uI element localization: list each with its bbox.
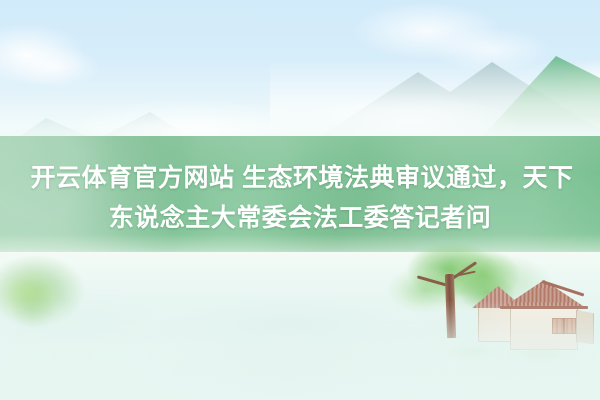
article-cover-banner: 开云体育官方网站 生态环境法典审议通过，天下 东说念主大常委会法工委答记者问 [0, 0, 600, 400]
title-line-2: 东说念主大常委会法工委答记者问 [109, 199, 492, 237]
misty-mountains [0, 0, 600, 150]
title-line-1: 开云体育官方网站 生态环境法典审议通过，天下 [27, 159, 574, 197]
page-title: 开云体育官方网站 生态环境法典审议通过，天下 东说念主大常委会法工委答记者问 [0, 136, 600, 260]
cottage-side-wall [576, 310, 594, 344]
cottage [466, 276, 600, 362]
cottage-roof-eave [500, 306, 588, 309]
cottage-window-bar [563, 318, 565, 334]
